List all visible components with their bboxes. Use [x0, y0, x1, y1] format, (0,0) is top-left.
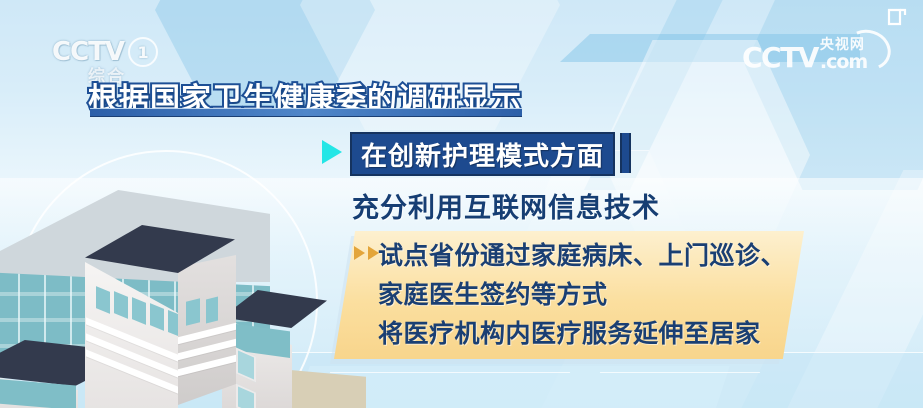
decor-line [600, 372, 760, 373]
double-chevron-icon [354, 246, 379, 260]
window-frame-icon[interactable] [887, 8, 907, 26]
building-window [186, 298, 200, 325]
topic-bar: 在创新护理模式方面 [350, 132, 615, 176]
callout-line: 试点省份通过家庭病床、上门巡诊、 [378, 236, 798, 275]
watermark-domain: .com [820, 53, 867, 72]
topic-bar-end-tick [620, 133, 631, 173]
watermark-cn-name: 央视网 [820, 38, 867, 52]
broadcast-graphic-frame: CCTV 1 综合 CCTV 央视网 .com 根据国家卫生健康委的调研显示 在… [0, 0, 923, 408]
subhead-text: 充分利用互联网信息技术 [352, 186, 660, 225]
decor-line [330, 372, 570, 373]
watermark-brand: CCTV [742, 44, 818, 72]
channel-number-badge: 1 [128, 37, 158, 67]
building-window [168, 310, 178, 336]
play-triangle-icon [322, 140, 342, 164]
callout-text-block: 试点省份通过家庭病床、上门巡诊、 家庭医生签约等方式 将医疗机构内医疗服务延伸至… [378, 236, 798, 353]
cctv-com-watermark: CCTV 央视网 .com [742, 38, 867, 72]
building-window [206, 297, 218, 324]
callout-line: 将医疗机构内医疗服务延伸至居家 [378, 314, 798, 353]
topic-bar-label: 在创新护理模式方面 [361, 136, 604, 173]
headline-underline [90, 108, 522, 117]
callout-line: 家庭医生签约等方式 [378, 275, 798, 314]
